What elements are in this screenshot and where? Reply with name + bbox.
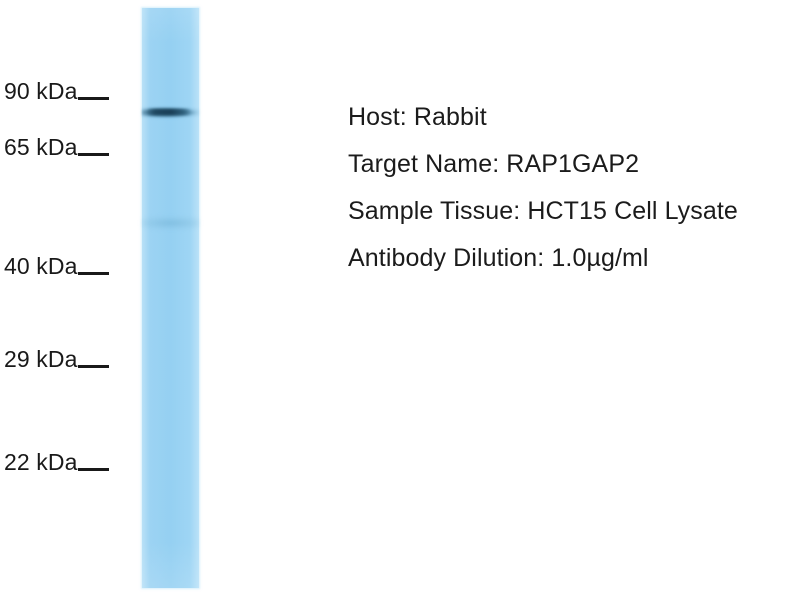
ladder-tick-40 (78, 272, 109, 275)
blot-annotation-block: Host: Rabbit Target Name: RAP1GAP2 Sampl… (348, 94, 800, 282)
ladder-tick-90 (78, 97, 109, 100)
ladder-marker-90: 90 kDa (4, 80, 109, 103)
ladder-marker-40-label: 40 kDa (4, 253, 77, 279)
ladder-marker-22-label: 22 kDa (4, 449, 77, 475)
ladder-tick-29 (78, 365, 109, 368)
info-line-sample-tissue: Sample Tissue: HCT15 Cell Lysate (348, 188, 800, 235)
ladder-tick-22 (78, 468, 109, 471)
ladder-marker-90-label: 90 kDa (4, 78, 77, 104)
ladder-marker-65: 65 kDa (4, 136, 109, 159)
nonspecific-band (142, 216, 199, 230)
info-line-antibody-dilution: Antibody Dilution: 1.0µg/ml (348, 235, 800, 282)
western-blot-figure: 90 kDa 65 kDa 40 kDa 29 kDa 22 kDa Host:… (0, 0, 800, 600)
info-line-target-name: Target Name: RAP1GAP2 (348, 141, 800, 188)
target-band-core (147, 109, 191, 115)
info-line-host: Host: Rabbit (348, 94, 800, 141)
gel-lane (142, 8, 199, 588)
ladder-marker-29: 29 kDa (4, 348, 109, 371)
ladder-marker-22: 22 kDa (4, 451, 109, 474)
ladder-marker-65-label: 65 kDa (4, 134, 77, 160)
ladder-marker-29-label: 29 kDa (4, 346, 77, 372)
ladder-marker-40: 40 kDa (4, 255, 109, 278)
ladder-tick-65 (78, 153, 109, 156)
